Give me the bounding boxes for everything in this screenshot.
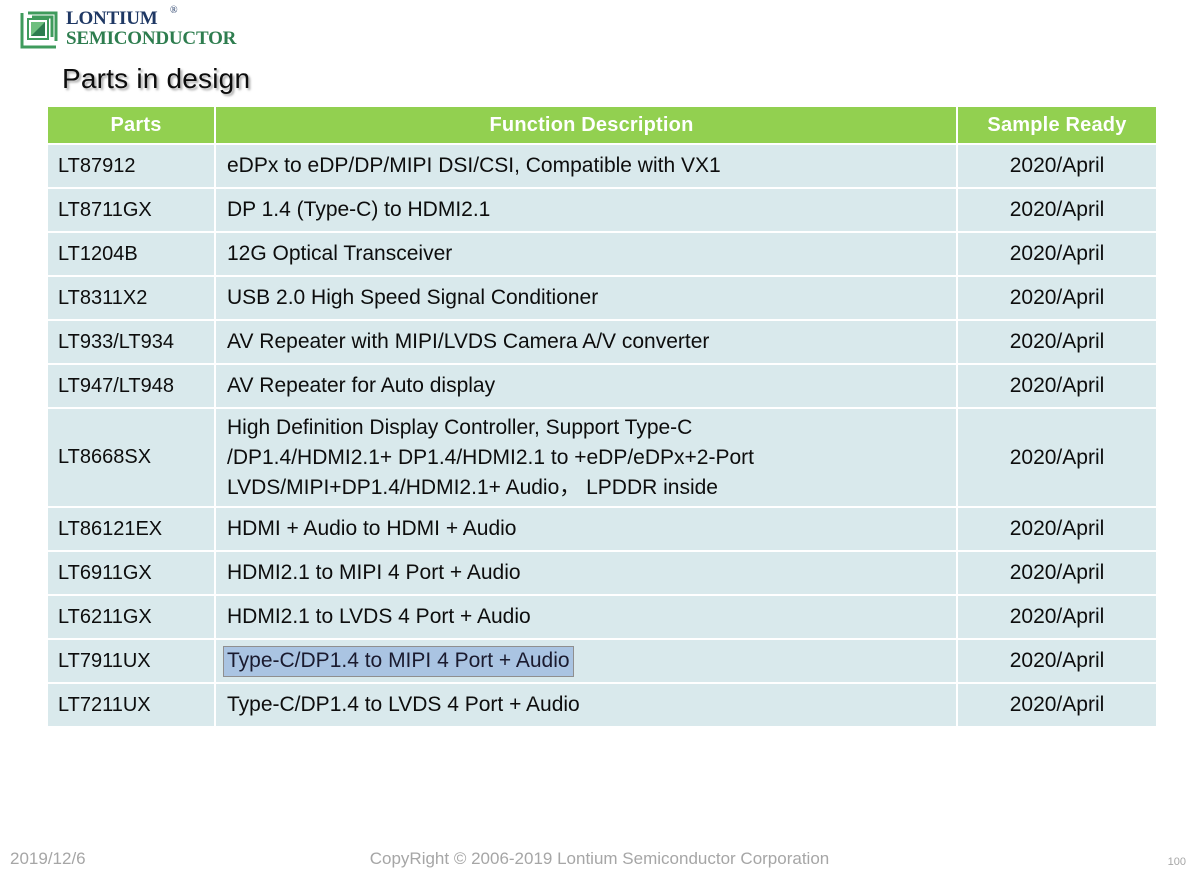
cell-sample: 2020/April (958, 596, 1156, 638)
cell-sample: 2020/April (958, 277, 1156, 319)
cell-part: LT1204B (48, 233, 214, 275)
cell-desc: USB 2.0 High Speed Signal Conditioner (216, 277, 956, 319)
cell-desc: eDPx to eDP/DP/MIPI DSI/CSI, Compatible … (216, 145, 956, 187)
cell-desc: HDMI2.1 to MIPI 4 Port + Audio (216, 552, 956, 594)
cell-part: LT8711GX (48, 189, 214, 231)
cell-desc: Type-C/DP1.4 to LVDS 4 Port + Audio (216, 684, 956, 726)
cell-sample: 2020/April (958, 321, 1156, 363)
registered-trademark-symbol: ® (170, 5, 178, 16)
table-header-row: Parts Function Description Sample Ready (48, 107, 1156, 143)
cell-sample: 2020/April (958, 508, 1156, 550)
cell-desc: Type-C/DP1.4 to MIPI 4 Port + Audio (216, 640, 956, 682)
cell-part: LT8668SX (48, 409, 214, 506)
table-header: Parts Function Description Sample Ready (48, 107, 1156, 143)
table-row: LT8668SX High Definition Display Control… (48, 409, 1156, 506)
selected-text-run[interactable]: Type-C/DP1.4 to MIPI 4 Port + Audio (223, 646, 574, 677)
logo-name-line-1: LONTIUM (66, 9, 236, 28)
table-row: LT6911GX HDMI2.1 to MIPI 4 Port + Audio … (48, 552, 1156, 594)
table-body: LT87912 eDPx to eDP/DP/MIPI DSI/CSI, Com… (48, 145, 1156, 726)
footer-page-number: 100 (1168, 856, 1186, 868)
cell-part: LT87912 (48, 145, 214, 187)
cell-desc: High Definition Display Controller, Supp… (216, 409, 956, 506)
cell-sample: 2020/April (958, 684, 1156, 726)
cell-part: LT933/LT934 (48, 321, 214, 363)
cell-desc: HDMI + Audio to HDMI + Audio (216, 508, 956, 550)
cell-sample: 2020/April (958, 233, 1156, 275)
cell-part: LT947/LT948 (48, 365, 214, 407)
table-row: LT947/LT948 AV Repeater for Auto display… (48, 365, 1156, 407)
table-row: LT8711GX DP 1.4 (Type-C) to HDMI2.1 2020… (48, 189, 1156, 231)
table-row: LT87912 eDPx to eDP/DP/MIPI DSI/CSI, Com… (48, 145, 1156, 187)
table-row: LT6211GX HDMI2.1 to LVDS 4 Port + Audio … (48, 596, 1156, 638)
nested-squares-logo-icon (18, 7, 64, 53)
column-header-function-description: Function Description (216, 107, 956, 143)
cell-sample: 2020/April (958, 552, 1156, 594)
cell-desc-line-2: /DP1.4/HDMI2.1+ DP1.4/HDMI2.1 to +eDP/eD… (227, 443, 956, 473)
cell-part: LT6911GX (48, 552, 214, 594)
parts-table-container: Parts Function Description Sample Ready … (46, 105, 1158, 728)
cell-desc-line-3: LVDS/MIPI+DP1.4/HDMI2.1+ Audio， LPDDR in… (227, 473, 956, 503)
table-row: LT933/LT934 AV Repeater with MIPI/LVDS C… (48, 321, 1156, 363)
cell-sample: 2020/April (958, 640, 1156, 682)
cell-desc: HDMI2.1 to LVDS 4 Port + Audio (216, 596, 956, 638)
cell-desc: AV Repeater with MIPI/LVDS Camera A/V co… (216, 321, 956, 363)
company-logo: ® LONTIUM SEMICONDUCTOR (18, 7, 236, 53)
cell-desc: 12G Optical Transceiver (216, 233, 956, 275)
cell-part: LT7211UX (48, 684, 214, 726)
table-row-selected: LT7911UX Type-C/DP1.4 to MIPI 4 Port + A… (48, 640, 1156, 682)
logo-name-line-2-text: SEMICONDUCTOR (66, 28, 236, 49)
cell-sample: 2020/April (958, 365, 1156, 407)
logo-name-line-1-text: LONTIUM (66, 8, 158, 29)
cell-desc: AV Repeater for Auto display (216, 365, 956, 407)
column-header-parts: Parts (48, 107, 214, 143)
cell-sample: 2020/April (958, 409, 1156, 506)
cell-desc: DP 1.4 (Type-C) to HDMI2.1 (216, 189, 956, 231)
table-row: LT1204B 12G Optical Transceiver 2020/Apr… (48, 233, 1156, 275)
table-row: LT7211UX Type-C/DP1.4 to LVDS 4 Port + A… (48, 684, 1156, 726)
cell-sample: 2020/April (958, 189, 1156, 231)
cell-desc-line-1: High Definition Display Controller, Supp… (227, 413, 956, 443)
page-title: Parts in design (62, 63, 250, 95)
table-row: LT86121EX HDMI + Audio to HDMI + Audio 2… (48, 508, 1156, 550)
cell-part: LT8311X2 (48, 277, 214, 319)
cell-part: LT7911UX (48, 640, 214, 682)
cell-part: LT6211GX (48, 596, 214, 638)
slide: ® LONTIUM SEMICONDUCTOR Parts in design … (0, 0, 1199, 893)
cell-sample: 2020/April (958, 145, 1156, 187)
footer-copyright: CopyRight © 2006-2019 Lontium Semiconduc… (0, 849, 1199, 869)
parts-table: Parts Function Description Sample Ready … (46, 105, 1158, 728)
logo-name-line-2: SEMICONDUCTOR (66, 28, 236, 49)
column-header-sample-ready: Sample Ready (958, 107, 1156, 143)
cell-part: LT86121EX (48, 508, 214, 550)
table-row: LT8311X2 USB 2.0 High Speed Signal Condi… (48, 277, 1156, 319)
